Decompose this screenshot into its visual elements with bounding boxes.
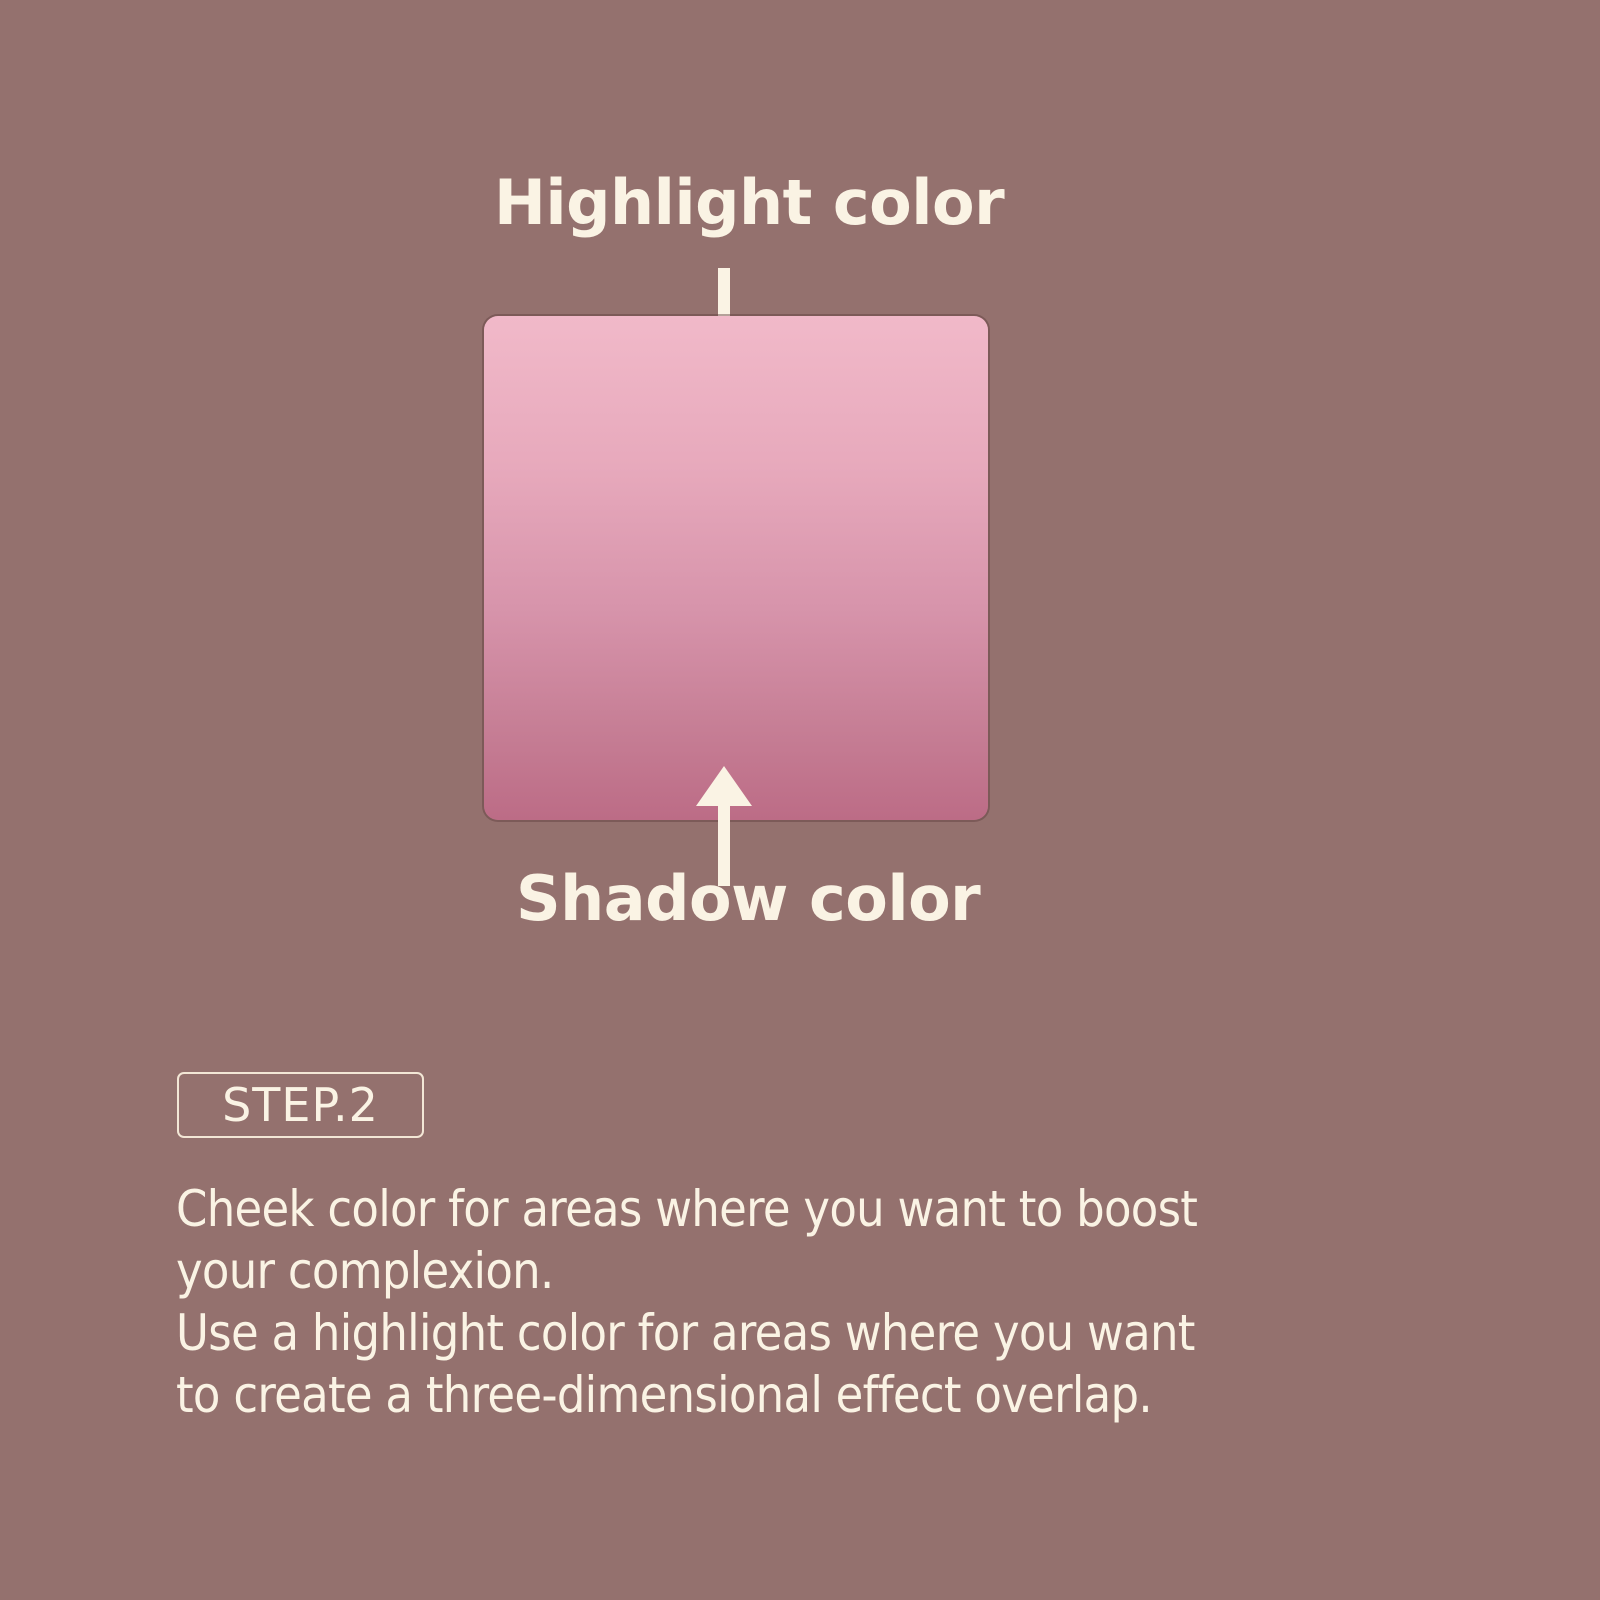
step-badge: STEP.2 [177,1072,424,1138]
shadow-color-label: Shadow color [516,868,980,930]
highlight-color-label: Highlight color [494,172,1004,234]
swatch-diagram: Highlight color Shadow color [0,0,1600,1000]
description-text: Cheek color for areas where you want to … [176,1178,1346,1426]
gradient-color-swatch [484,316,988,820]
tutorial-card: Highlight color Shadow color STEP.2 Chee… [0,0,1600,1600]
description-line: Use a highlight color for areas where yo… [176,1302,1346,1364]
description-line: to create a three-dimensional effect ove… [176,1364,1346,1426]
step-badge-label: STEP.2 [222,1082,379,1128]
description-line: Cheek color for areas where you want to … [176,1178,1346,1240]
description-line: your complexion. [176,1240,1346,1302]
